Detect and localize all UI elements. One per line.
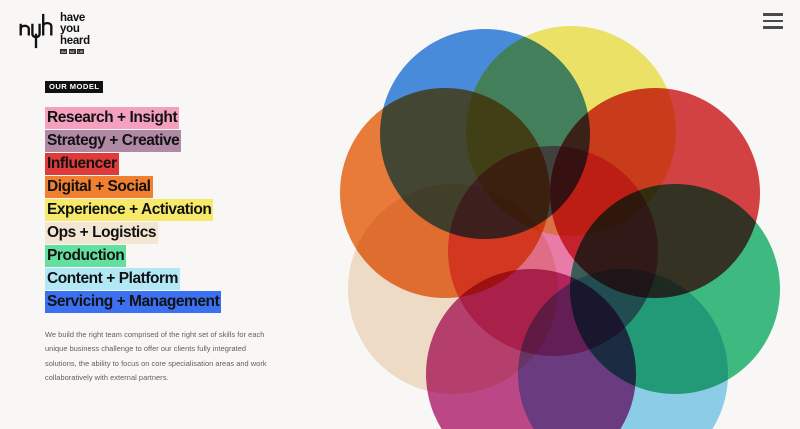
hamburger-bar-2 <box>763 20 783 23</box>
model-list-item[interactable]: Ops + Logistics <box>45 222 345 244</box>
body-paragraph: We build the right team comprised of the… <box>45 328 277 386</box>
logo-region-tagline: AU NZ UK <box>60 49 90 54</box>
model-item-label: Servicing + Management <box>45 291 221 313</box>
model-item-label: Influencer <box>45 153 119 175</box>
model-list-item[interactable]: Experience + Activation <box>45 199 345 221</box>
model-list-item[interactable]: Digital + Social <box>45 176 345 198</box>
logo-tagline-block-1: NZ <box>69 49 76 54</box>
logo-tagline-block-0: AU <box>60 49 67 54</box>
logo-line-3: heard <box>60 36 90 47</box>
hamburger-bar-1 <box>763 13 783 16</box>
model-item-label: Ops + Logistics <box>45 222 158 244</box>
model-item-label: Experience + Activation <box>45 199 213 221</box>
model-list-item[interactable]: Production <box>45 245 345 267</box>
model-item-label: Research + Insight <box>45 107 179 129</box>
model-list-item[interactable]: Influencer <box>45 153 345 175</box>
content-column: OUR MODEL Research + InsightStrategy + C… <box>45 76 345 386</box>
model-capability-list: Research + InsightStrategy + CreativeInf… <box>45 107 345 313</box>
hyh-monogram-icon <box>18 12 54 50</box>
circle-pink <box>448 146 658 356</box>
logo-tagline-block-2: UK <box>77 49 84 54</box>
model-item-label: Strategy + Creative <box>45 130 181 152</box>
model-item-label: Digital + Social <box>45 176 153 198</box>
page-root: have you heard AU NZ UK OUR MODEL Resear… <box>0 0 800 429</box>
body-copy: We build the right team comprised of the… <box>45 328 277 386</box>
model-list-item[interactable]: Strategy + Creative <box>45 130 345 152</box>
overlapping-circles-diagram <box>318 26 778 426</box>
model-list-item[interactable]: Content + Platform <box>45 268 345 290</box>
site-logo[interactable]: have you heard AU NZ UK <box>18 12 90 54</box>
model-item-label: Production <box>45 245 126 267</box>
model-item-label: Content + Platform <box>45 268 180 290</box>
model-list-item[interactable]: Servicing + Management <box>45 291 345 313</box>
model-list-item[interactable]: Research + Insight <box>45 107 345 129</box>
section-eyebrow-badge: OUR MODEL <box>45 81 103 94</box>
logo-wordmark: have you heard AU NZ UK <box>60 12 90 54</box>
